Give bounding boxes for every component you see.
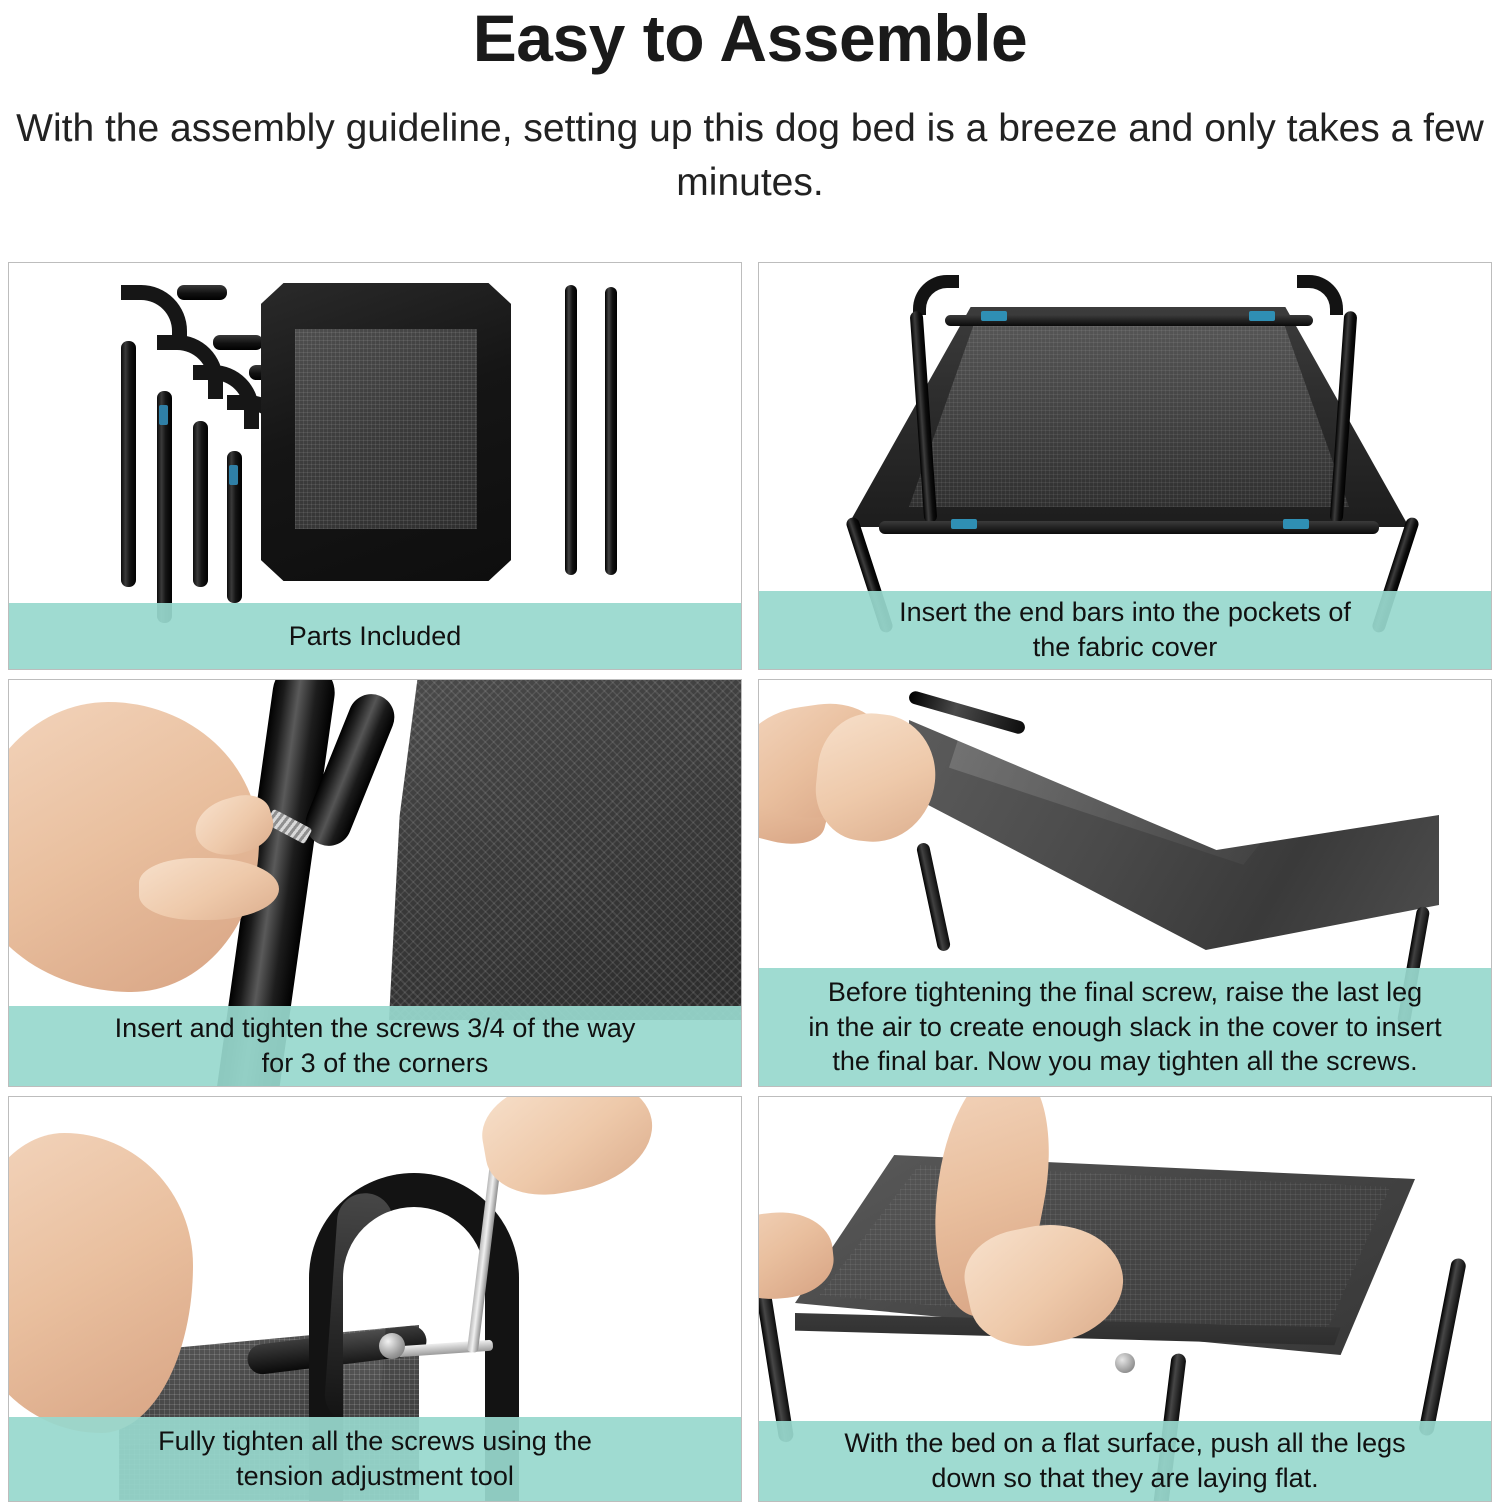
mesh-fabric [389,680,741,1020]
panel-caption: Before tightening the final screw, raise… [759,968,1491,1086]
leg-sticker-2 [159,405,168,425]
corner-screw [1115,1353,1135,1373]
fabric-cover-part [261,283,511,581]
leg-hook-left [913,275,959,315]
leg-hook-right [1297,275,1343,315]
assembly-infographic: Easy to Assemble With the assembly guide… [0,0,1500,1488]
panel-parts-included: Parts Included [8,262,742,670]
steps-grid: Parts Included Insert the end b [8,262,1492,1502]
page-title: Easy to Assemble [0,2,1500,76]
header: Easy to Assemble With the assembly guide… [0,0,1500,210]
panel-fully-tighten: Fully tighten all the screws using the t… [8,1096,742,1502]
leg-top-1 [177,285,227,300]
cover-tab-bottom-right [1283,519,1309,529]
panel-raise-last-leg: Before tightening the final screw, raise… [758,679,1492,1087]
bed-mesh-center [909,321,1349,507]
panel-caption: Parts Included [9,603,741,669]
panel-push-legs-flat: With the bed on a flat surface, push all… [758,1096,1492,1502]
leg-top-2 [213,335,263,350]
cover-tab-top-right [1249,311,1275,321]
cover-tab-top-left [981,311,1007,321]
end-bar-part-2 [605,287,617,575]
bed-leg-raised-side [916,842,952,952]
panel-caption: Insert the end bars into the pockets of … [759,591,1491,669]
panel-insert-end-bars: Insert the end bars into the pockets of … [758,262,1492,670]
leg-part-1 [121,341,136,587]
panel-caption: With the bed on a flat surface, push all… [759,1421,1491,1501]
end-bar-part-1 [565,285,577,575]
cover-mesh-center [295,329,477,529]
panel-caption: Insert and tighten the screws 3/4 of the… [9,1006,741,1086]
corner-bolt [379,1333,405,1359]
panel-caption: Fully tighten all the screws using the t… [9,1417,741,1501]
cover-tab-bottom-left [951,519,977,529]
panel-tighten-three-corners: Insert and tighten the screws 3/4 of the… [8,679,742,1087]
leg-sticker-4 [229,465,238,485]
page-subtitle: With the assembly guideline, setting up … [0,102,1500,210]
leg-part-3 [193,421,208,587]
hand-turning-tool [475,1097,662,1205]
bed-leg-back-right [1418,1257,1467,1437]
bed-leg-front-left [759,1283,794,1443]
index-finger [139,858,279,920]
leg-part-2 [157,391,172,623]
